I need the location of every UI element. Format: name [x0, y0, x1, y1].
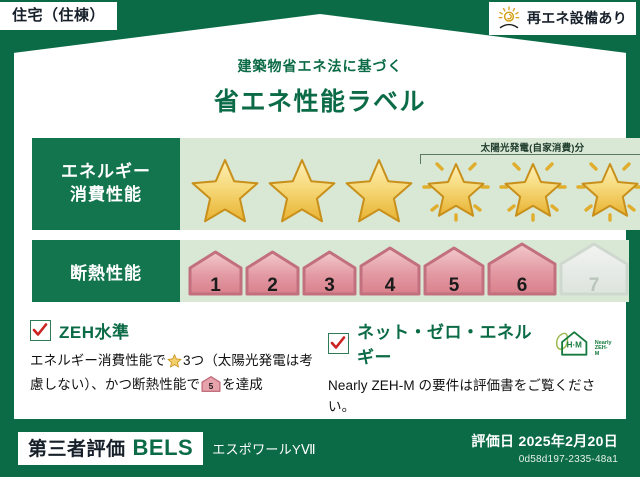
svg-text:H·M: H·M: [567, 340, 583, 349]
grade-number: 5: [423, 275, 485, 297]
energy-performance-label-box: エネルギー 消費性能: [32, 138, 180, 230]
renewable-badge-label: 再エネ設備あり: [527, 11, 627, 25]
house-icon: 1: [188, 250, 243, 301]
label-subtitle: 建築物省エネ法に基づく: [0, 56, 640, 76]
house-icon: 2: [245, 250, 300, 301]
star-icon: [265, 154, 339, 224]
insulation-grade-panel: 1 2 3 4: [180, 240, 629, 302]
grade-number: 6: [487, 275, 557, 297]
insulation-performance-label-box: 断熱性能: [32, 240, 180, 302]
evaluation-info: 評価日 2025年2月20日 0d58d197-2335-48a1: [471, 431, 618, 465]
grade-number: 4: [359, 275, 421, 297]
bels-en-text: BELS: [133, 437, 194, 459]
bels-badge: 第三者評価 BELS: [18, 432, 203, 465]
house-icon: 5: [423, 246, 485, 301]
grade-number: 1: [188, 275, 243, 297]
grade-number: 7: [559, 275, 629, 297]
zeh-check-title: ZEH水準: [59, 318, 130, 343]
nze-check-description: Nearly ZEH-M の要件は評価書をご覧ください。: [328, 375, 612, 418]
label-main-title: 省エネ性能ラベル: [0, 82, 640, 118]
house-icon-5: 5: [201, 376, 221, 398]
zeh-standard-check: ZEH水準 エネルギー消費性能で 3つ（太陽光発電は考慮しない）、かつ断熱性能で…: [30, 318, 314, 418]
energy-label-line1: エネルギー: [61, 161, 151, 184]
sparkling-star-icon: [419, 154, 493, 224]
bels-jp-text: 第三者評価: [28, 440, 126, 459]
svg-text:5: 5: [209, 381, 214, 391]
energy-performance-label: 住宅（住棟） 再エネ設備あり 建築物省エネ法に基づく 省: [0, 0, 640, 477]
insulation-performance-row: 断熱性能 1: [32, 240, 610, 302]
house-icon: 4: [359, 246, 421, 301]
star-icon: [188, 154, 262, 224]
sparkling-star-icon: [496, 154, 570, 224]
house-icon: 6: [487, 242, 557, 301]
energy-performance-row: エネルギー 消費性能 太陽光発電(自家消費)分: [32, 138, 610, 230]
star-icon: [342, 154, 416, 224]
building-type-tag: 住宅（住棟）: [0, 2, 117, 30]
house-icon-inactive: 7: [559, 242, 629, 301]
zeh-check-header: ZEH水準: [30, 318, 314, 343]
nze-check-title: ネット・ゼロ・エネルギー: [357, 318, 542, 368]
label-footer: 第三者評価 BELS エスポワールYⅦ 評価日 2025年2月20日 0d58d…: [0, 419, 640, 477]
label-title-block: 建築物省エネ法に基づく 省エネ性能ラベル: [0, 56, 640, 118]
renewable-energy-badge: 再エネ設備あり: [489, 2, 636, 35]
star-icon: [167, 353, 182, 374]
certification-checks: ZEH水準 エネルギー消費性能で 3つ（太陽光発電は考慮しない）、かつ断熱性能で…: [30, 318, 612, 418]
energy-label-line2: 消費性能: [70, 184, 142, 207]
insulation-grade-scale: 1 2 3 4: [180, 242, 629, 301]
grade-number: 2: [245, 275, 300, 297]
zeh-m-house-logo: H·M Nearly ZEH-M: [554, 328, 612, 358]
energy-performance-stars-panel: 太陽光発電(自家消費)分: [180, 138, 640, 230]
insulation-label: 断熱性能: [70, 259, 142, 284]
grade-number: 3: [302, 275, 357, 297]
zehm-caption-line2: ZEH-M: [595, 346, 612, 358]
sun-icon: [496, 6, 522, 30]
evaluation-date: 評価日 2025年2月20日: [471, 431, 618, 451]
checkmark-icon: [30, 320, 51, 341]
solar-generation-note: 太陽光発電(自家消費)分: [415, 140, 640, 154]
net-zero-energy-check: ネット・ゼロ・エネルギー H·M Nearly ZEH-M Nearly ZEH…: [328, 318, 612, 418]
checkmark-icon: [328, 333, 349, 354]
nze-check-header: ネット・ゼロ・エネルギー H·M Nearly ZEH-M: [328, 318, 612, 368]
sparkling-star-icon: [573, 154, 640, 224]
house-icon: 3: [302, 250, 357, 301]
zeh-desc-part1: エネルギー消費性能で: [30, 353, 166, 368]
evaluation-id: 0d58d197-2335-48a1: [471, 454, 618, 465]
star-rating: [180, 154, 640, 224]
zeh-desc-part3: を達成: [222, 377, 263, 392]
building-name: エスポワールYⅦ: [212, 439, 316, 458]
zeh-check-description: エネルギー消費性能で 3つ（太陽光発電は考慮しない）、かつ断熱性能で 5 を達成: [30, 350, 314, 399]
